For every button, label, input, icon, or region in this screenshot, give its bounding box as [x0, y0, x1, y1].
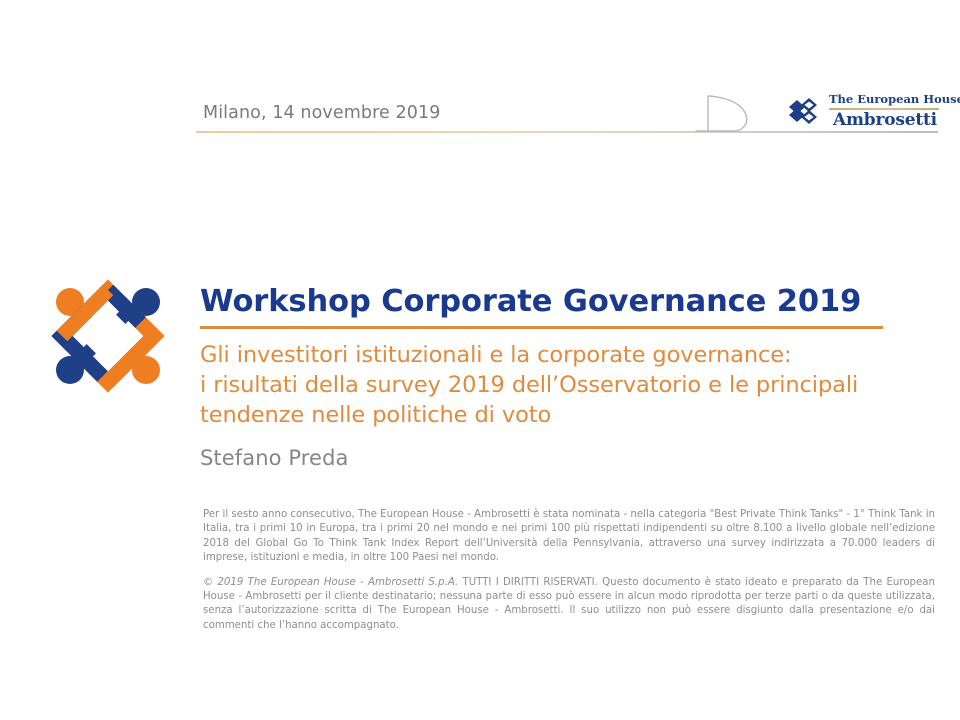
- slide-header: Milano, 14 novembre 2019: [0, 0, 960, 150]
- slide-author: Stefano Preda: [200, 446, 900, 470]
- copyright-note: © 2019 The European House - Ambrosetti S…: [203, 576, 935, 634]
- slide-subtitle: Gli investitori istituzionali e la corpo…: [200, 340, 900, 430]
- brand-line-european-house: The European House: [829, 92, 941, 107]
- presentation-slide: Milano, 14 novembre 2019: [0, 0, 960, 720]
- ambrosetti-monogram-icon: [789, 96, 823, 126]
- brand-line-ambrosetti: Ambrosetti: [829, 110, 941, 130]
- ambrosetti-interlocking-diamonds-logo: [42, 270, 174, 402]
- brand-logo: The European House Ambrosetti: [789, 92, 941, 132]
- title-underline-rule: [200, 326, 883, 329]
- brand-wordmark: The European House Ambrosetti: [829, 92, 941, 130]
- subtitle-line-1: Gli investitori istituzionali e la corpo…: [200, 340, 900, 370]
- subtitle-line-2: i risultati della survey 2019 dell’Osser…: [200, 370, 900, 400]
- swoosh-fin-icon: [694, 93, 764, 133]
- copyright-holder: © 2019 The European House - Ambrosetti S…: [203, 577, 458, 588]
- fineprint-block: Per il sesto anno consecutivo, The Europ…: [203, 508, 935, 633]
- slide-title: Workshop Corporate Governance 2019: [200, 283, 900, 321]
- subtitle-line-3: tendenze nelle politiche di voto: [200, 400, 900, 430]
- header-date: Milano, 14 novembre 2019: [203, 103, 440, 123]
- title-block: Workshop Corporate Governance 2019 Gli i…: [200, 283, 900, 470]
- legal-ranking-note: Per il sesto anno consecutivo, The Europ…: [203, 508, 935, 566]
